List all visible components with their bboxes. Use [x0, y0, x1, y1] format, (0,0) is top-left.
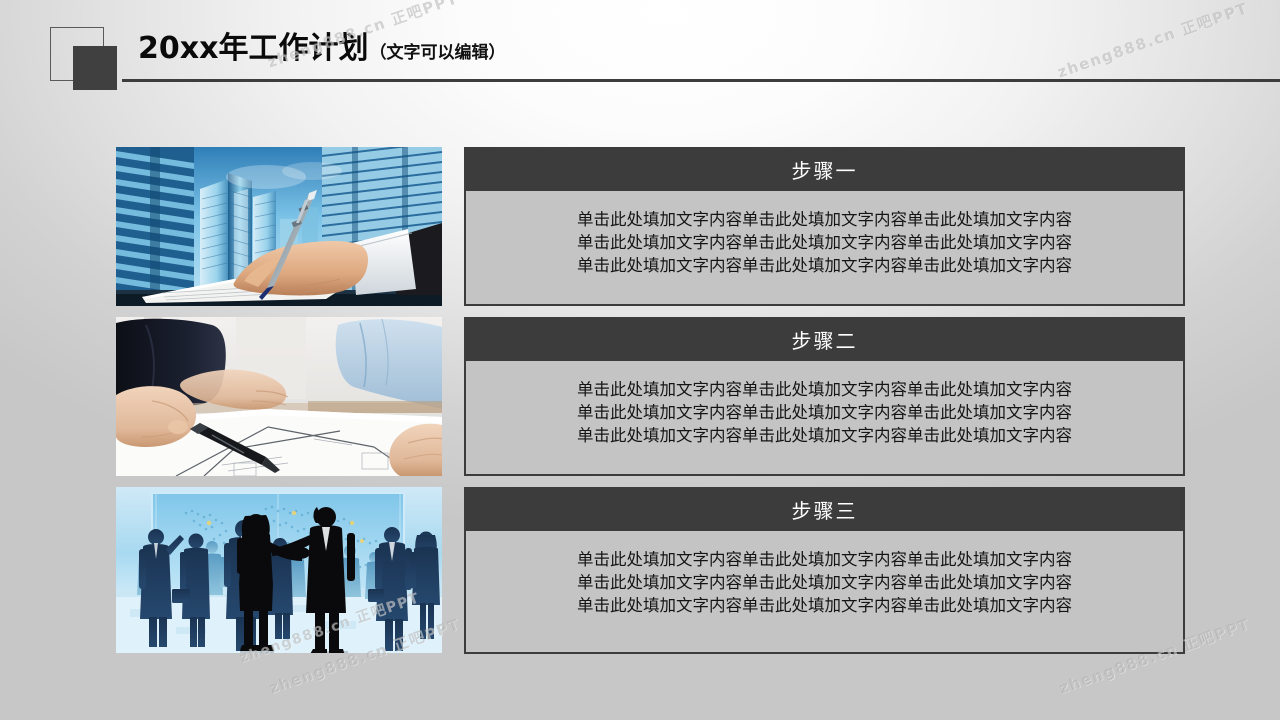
step-1-line-3: 单击此处填加文字内容单击此处填加文字内容单击此处填加文字内容 — [577, 254, 1072, 277]
slide-header: 20xx年工作计划 （文字可以编辑） — [0, 0, 1280, 100]
photo-hand-signing-document — [116, 147, 442, 306]
page-title-main: 20xx年工作计划 — [138, 34, 368, 64]
step-3-line-2: 单击此处填加文字内容单击此处填加文字内容单击此处填加文字内容 — [577, 571, 1072, 594]
page-title-subtitle: （文字可以编辑） — [369, 45, 505, 62]
slide-canvas: 20xx年工作计划 （文字可以编辑） — [0, 0, 1280, 720]
step-panel-3: 步骤三 单击此处填加文字内容单击此处填加文字内容单击此处填加文字内容 单击此处填… — [464, 487, 1185, 654]
step-3-line-3: 单击此处填加文字内容单击此处填加文字内容单击此处填加文字内容 — [577, 594, 1072, 617]
step-3-body[interactable]: 单击此处填加文字内容单击此处填加文字内容单击此处填加文字内容 单击此处填加文字内… — [464, 531, 1185, 654]
photo-hand-signing-document-graphic — [116, 147, 442, 306]
step-2-line-3: 单击此处填加文字内容单击此处填加文字内容单击此处填加文字内容 — [577, 424, 1072, 447]
step-panel-2: 步骤二 单击此处填加文字内容单击此处填加文字内容单击此处填加文字内容 单击此处填… — [464, 317, 1185, 476]
photo-business-people-silhouettes — [116, 487, 442, 653]
step-2-header: 步骤二 — [464, 317, 1185, 361]
step-1-line-2: 单击此处填加文字内容单击此处填加文字内容单击此处填加文字内容 — [577, 231, 1072, 254]
step-2-line-1: 单击此处填加文字内容单击此处填加文字内容单击此处填加文字内容 — [577, 378, 1072, 401]
step-1-title: 步骤一 — [792, 155, 858, 184]
step-1-body[interactable]: 单击此处填加文字内容单击此处填加文字内容单击此处填加文字内容 单击此处填加文字内… — [464, 191, 1185, 306]
step-panel-1: 步骤一 单击此处填加文字内容单击此处填加文字内容单击此处填加文字内容 单击此处填… — [464, 147, 1185, 306]
photo-team-reviewing-blueprints-graphic — [116, 317, 442, 476]
decor-square-filled-icon — [73, 46, 117, 90]
page-title: 20xx年工作计划 （文字可以编辑） — [138, 34, 505, 64]
step-3-line-1: 单击此处填加文字内容单击此处填加文字内容单击此处填加文字内容 — [577, 548, 1072, 571]
step-1-line-1: 单击此处填加文字内容单击此处填加文字内容单击此处填加文字内容 — [577, 208, 1072, 231]
step-2-line-2: 单击此处填加文字内容单击此处填加文字内容单击此处填加文字内容 — [577, 401, 1072, 424]
photo-team-reviewing-blueprints — [116, 317, 442, 476]
step-3-title: 步骤三 — [792, 495, 858, 524]
step-2-body[interactable]: 单击此处填加文字内容单击此处填加文字内容单击此处填加文字内容 单击此处填加文字内… — [464, 361, 1185, 476]
title-underline-divider — [122, 79, 1280, 82]
step-3-header: 步骤三 — [464, 487, 1185, 531]
step-2-title: 步骤二 — [792, 325, 858, 354]
step-1-header: 步骤一 — [464, 147, 1185, 191]
photo-business-people-silhouettes-graphic — [116, 487, 442, 653]
